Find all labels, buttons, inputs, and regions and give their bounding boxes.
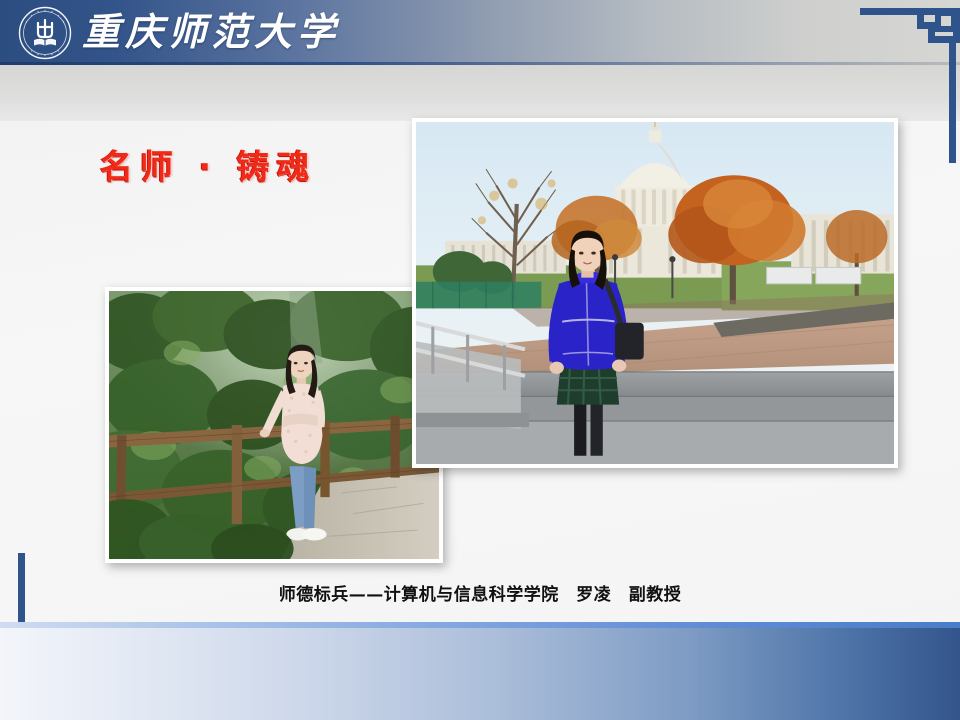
- presentation-slide: 重庆师范大学: [0, 0, 960, 720]
- university-seal-icon: [18, 6, 72, 60]
- photo-forest-railing-image: [109, 291, 439, 559]
- page-title: 名师 · 铸魂: [100, 140, 317, 188]
- header-underline: [0, 62, 960, 65]
- photo-forest-railing: [105, 287, 443, 563]
- header-gray-strip: [0, 65, 960, 121]
- university-branding: 重庆师范大学: [18, 5, 340, 61]
- university-name: 重庆师范大学: [82, 14, 340, 52]
- photo-us-capitol: [412, 118, 898, 468]
- footer-band: [0, 628, 960, 720]
- photo-us-capitol-image: [416, 122, 894, 464]
- slide-caption: 师德标兵——计算机与信息科学学院 罗凌 副教授: [0, 580, 960, 605]
